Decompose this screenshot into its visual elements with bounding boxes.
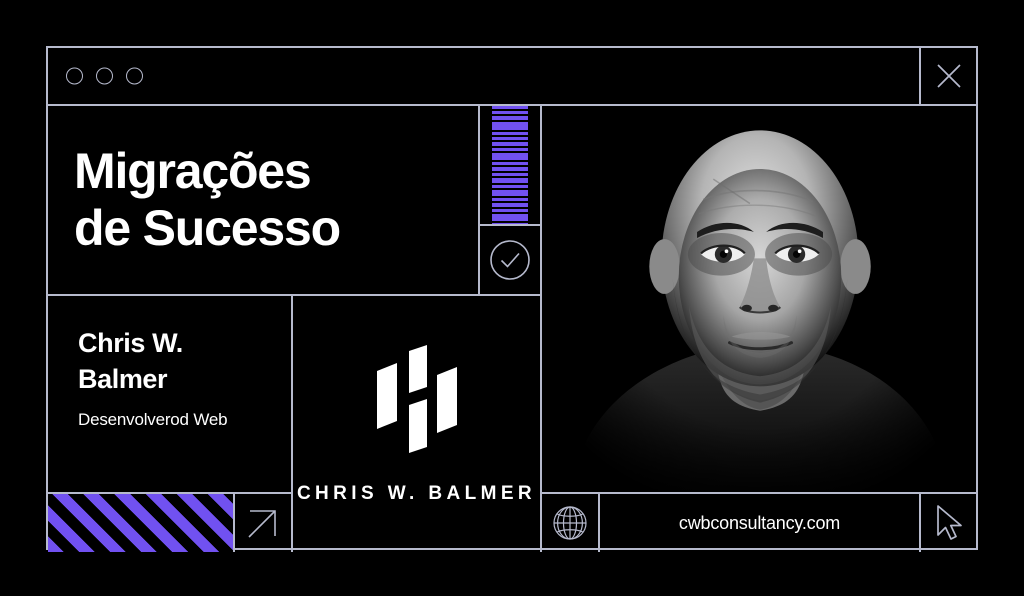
barcode-bar (492, 153, 528, 160)
globe-button[interactable] (542, 494, 600, 552)
left-column: Migrações de Sucesso (48, 106, 542, 552)
window-dot-2[interactable] (96, 68, 113, 85)
h-monogram-logo (363, 343, 471, 461)
portrait-photo (542, 106, 976, 494)
browser-window-frame: Migrações de Sucesso (46, 46, 978, 550)
close-button[interactable] (919, 48, 976, 104)
person-info: Chris W. Balmer Desenvolverod Web (48, 296, 291, 494)
url-text: cwbconsultancy.com (679, 513, 840, 534)
diagonal-stripes-swatch (48, 494, 233, 552)
barcode-cell (480, 106, 540, 226)
barcode-bar (492, 214, 528, 221)
page-title: Migrações de Sucesso (74, 143, 340, 257)
globe-icon (550, 503, 590, 543)
url-bar: cwbconsultancy.com (542, 494, 976, 552)
decor-strip-row (48, 494, 291, 552)
right-column: cwbconsultancy.com (542, 106, 976, 552)
brand-wordmark: CHRIS W. BALMER (297, 483, 536, 505)
slide-canvas: Migrações de Sucesso (0, 0, 1024, 596)
person-role: Desenvolverod Web (78, 410, 291, 430)
window-dot-3[interactable] (126, 68, 143, 85)
close-icon (934, 61, 964, 91)
person-name: Chris W. Balmer (78, 326, 291, 398)
barcode-icon (492, 106, 528, 226)
profile-row: Chris W. Balmer Desenvolverod Web (48, 296, 540, 552)
arrow-button[interactable] (233, 494, 291, 552)
check-cell[interactable] (480, 226, 540, 294)
window-body: Migrações de Sucesso (48, 106, 976, 552)
person-column: Chris W. Balmer Desenvolverod Web (48, 296, 293, 552)
cursor-cell[interactable] (919, 494, 976, 552)
circle-check-icon (488, 238, 532, 282)
barcode-bar (492, 122, 528, 130)
window-titlebar (48, 48, 976, 106)
headline-cell: Migrações de Sucesso (48, 106, 478, 294)
url-field[interactable]: cwbconsultancy.com (600, 494, 919, 552)
cursor-arrow-icon (932, 504, 966, 542)
portrait-illustration (542, 106, 976, 492)
decor-stack (478, 106, 540, 294)
arrow-up-right-icon (243, 503, 283, 543)
headline-row: Migrações de Sucesso (48, 106, 540, 296)
window-dot-1[interactable] (66, 68, 83, 85)
brand-logo-panel: CHRIS W. BALMER (293, 296, 540, 552)
window-traffic-lights (66, 68, 143, 85)
